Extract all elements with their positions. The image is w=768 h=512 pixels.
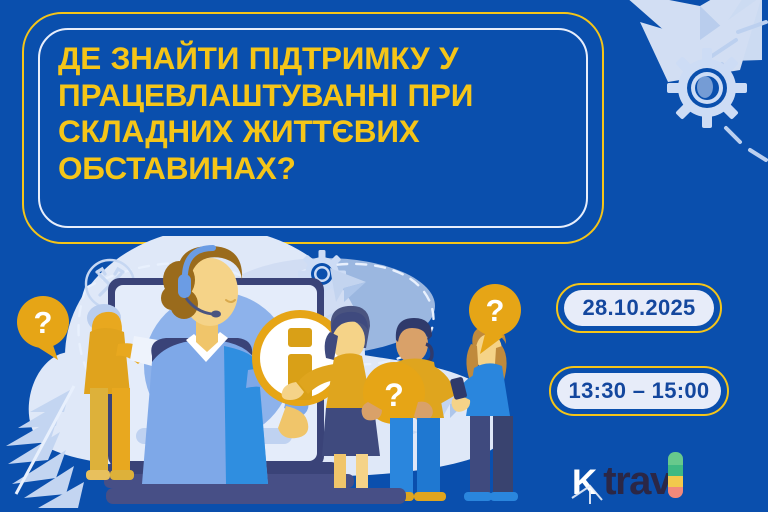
logo-dot-2: [668, 465, 683, 476]
logo-dot-3: [668, 476, 683, 487]
date-badge-label: 28.10.2025: [564, 290, 714, 326]
logo-dot-1: [668, 452, 683, 465]
logo-dot-4: [668, 487, 683, 498]
ground-bar: [106, 488, 406, 504]
svg-text:?: ?: [486, 293, 505, 328]
svg-text:?: ?: [384, 377, 404, 413]
page-title: ДЕ ЗНАЙТИ ПІДТРИМКУ У ПРАЦЕВЛАШТУВАННІ П…: [58, 40, 576, 187]
time-badge-label: 13:30 – 15:00: [557, 373, 721, 409]
date-badge: 28.10.2025: [556, 283, 722, 333]
question-speech-bubble-left: ?: [17, 296, 69, 360]
paper-plane-speed-lines: [700, 22, 766, 82]
time-badge: 13:30 – 15:00: [549, 366, 729, 416]
title-frame: ДЕ ЗНАЙТИ ПІДТРИМКУ У ПРАЦЕВЛАШТУВАННІ П…: [22, 12, 604, 244]
paper-plane-icon: [618, 0, 762, 82]
logo-dot-stack: [668, 452, 683, 498]
gear-dash-lines: [726, 128, 766, 160]
logo-k-accent: [568, 484, 612, 506]
illustration-online-support: ?: [0, 236, 560, 512]
poster-canvas: ДЕ ЗНАЙТИ ПІДТРИМКУ У ПРАЦЕВЛАШТУВАННІ П…: [0, 0, 768, 512]
gear-icon: [667, 48, 747, 128]
svg-text:?: ?: [34, 305, 53, 340]
